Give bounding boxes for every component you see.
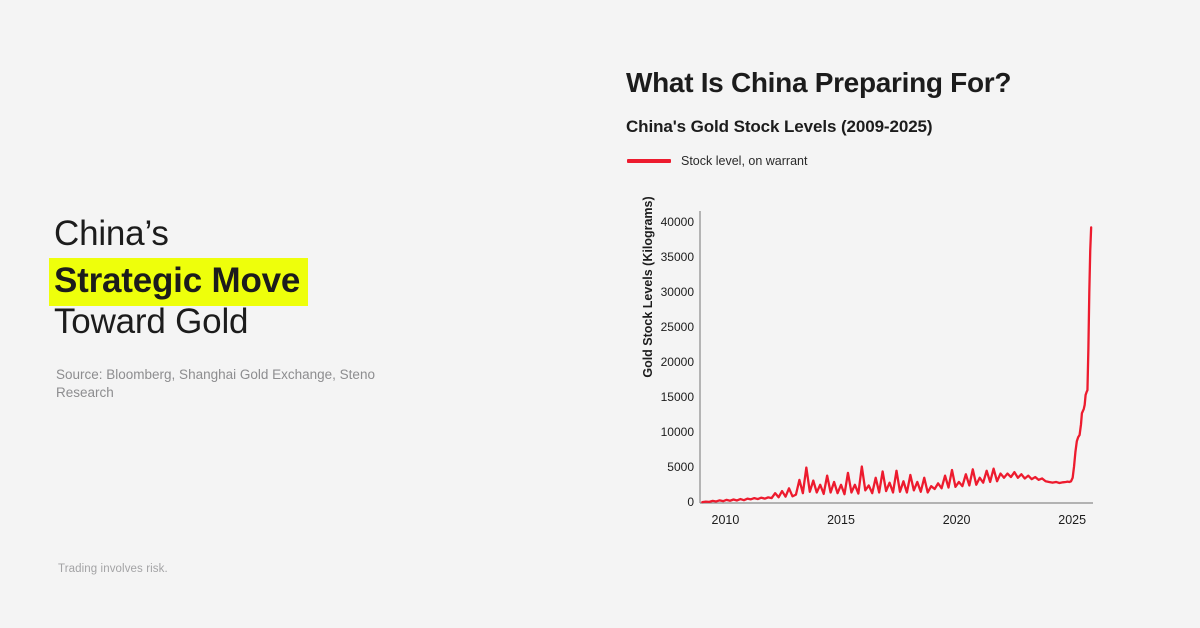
risk-disclaimer: Trading involves risk. bbox=[58, 563, 168, 575]
headline-row-1: China’s bbox=[54, 212, 474, 256]
headline-row-2: Strategic Move bbox=[54, 256, 474, 300]
line-chart-svg bbox=[600, 0, 1200, 628]
plot-area: Gold Stock Levels (Kilograms) 0500010000… bbox=[600, 0, 1200, 628]
headline-block: China’s Strategic Move Toward Gold bbox=[54, 212, 474, 344]
headline-row-3: Toward Gold bbox=[54, 300, 474, 344]
source-note: Source: Bloomberg, Shanghai Gold Exchang… bbox=[56, 366, 386, 402]
infographic-canvas: China’s Strategic Move Toward Gold Sourc… bbox=[0, 0, 1200, 628]
headline-line-2-highlighted: Strategic Move bbox=[49, 258, 308, 306]
left-panel: China’s Strategic Move Toward Gold Sourc… bbox=[0, 0, 600, 628]
right-panel: What Is China Preparing For? China's Gol… bbox=[600, 0, 1200, 628]
headline-line-3: Toward Gold bbox=[54, 302, 248, 341]
headline-line-1: China’s bbox=[54, 214, 169, 253]
series-line-0 bbox=[702, 227, 1091, 502]
